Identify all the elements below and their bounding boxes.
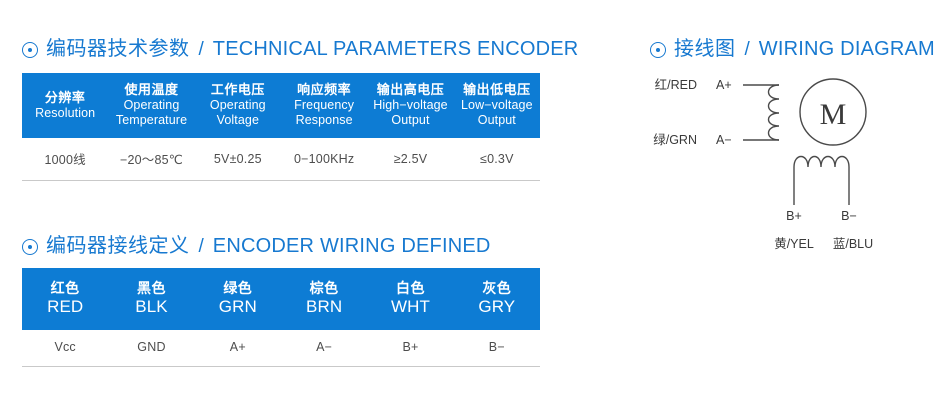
section-title-en: WIRING DIAGRAM <box>759 39 935 59</box>
circle-dot-icon <box>22 42 38 58</box>
column-header-en: GRN <box>197 297 279 317</box>
cell-brown-value: A− <box>281 330 367 367</box>
column-header-en: Resolution <box>24 106 106 121</box>
section-title-separator: / <box>198 40 205 59</box>
section-title-wiring-diagram: 接线图 / WIRING DIAGRAM <box>650 39 935 59</box>
column-header-en: BLK <box>110 297 192 317</box>
cell-operating-temperature-value: −20～85℃ <box>108 138 194 181</box>
wiring-diagram-figure: M 红/RED A+ 绿/GRN A− B+ B− 黄/YEL 蓝/BLU <box>648 62 938 252</box>
circle-dot-icon <box>650 42 666 58</box>
column-header-cn: 分辨率 <box>24 90 106 106</box>
column-header-cn: 工作电压 <box>197 82 279 98</box>
column-header-en: High−voltage Output <box>369 98 451 128</box>
column-header-red: 红色 RED <box>22 268 108 330</box>
column-header-resolution: 分辨率 Resolution <box>22 73 108 138</box>
section-title-cn: 编码器技术参数 <box>46 39 190 59</box>
label-terminal-a-minus: A− <box>716 133 732 147</box>
column-header-en: Operating Temperature <box>110 98 192 128</box>
circle-dot-icon <box>22 239 38 255</box>
coil-phase-a <box>769 85 780 140</box>
wiring-diagram-svg: M 红/RED A+ 绿/GRN A− B+ B− 黄/YEL 蓝/BLU <box>648 62 938 252</box>
cell-low-voltage-output-value: ≤0.3V <box>454 138 540 181</box>
column-header-cn: 使用温度 <box>110 82 192 98</box>
table-header-row: 红色 RED 黑色 BLK 绿色 GRN 棕色 BRN 白色 WHT 灰色 GR… <box>22 268 540 330</box>
cell-red-value: Vcc <box>22 330 108 367</box>
section-title-separator: / <box>744 40 751 59</box>
column-header-gray: 灰色 GRY <box>454 268 540 330</box>
label-red-wire: 红/RED <box>655 77 697 92</box>
column-header-en: GRY <box>456 297 538 317</box>
column-header-cn: 棕色 <box>283 280 365 297</box>
column-header-cn: 红色 <box>24 280 106 297</box>
column-header-green: 绿色 GRN <box>195 268 281 330</box>
column-header-cn: 响应频率 <box>283 82 365 98</box>
column-header-cn: 输出低电压 <box>456 82 538 98</box>
section-title-en: TECHNICAL PARAMETERS ENCODER <box>213 39 579 59</box>
technical-parameters-table: 分辨率 Resolution 使用温度 Operating Temperatur… <box>22 73 540 181</box>
section-title-encoder-wiring-defined: 编码器接线定义 / ENCODER WIRING DEFINED <box>22 236 491 256</box>
cell-green-value: A+ <box>195 330 281 367</box>
column-header-frequency-response: 响应频率 Frequency Response <box>281 73 367 138</box>
column-header-operating-temperature: 使用温度 Operating Temperature <box>108 73 194 138</box>
label-grn-wire: 绿/GRN <box>653 132 697 147</box>
cell-operating-voltage-value: 5V±0.25 <box>195 138 281 181</box>
column-header-black: 黑色 BLK <box>108 268 194 330</box>
column-header-en: Low−voltage Output <box>456 98 538 128</box>
table-row: Vcc GND A+ A− B+ B− <box>22 330 540 367</box>
column-header-cn: 白色 <box>369 280 451 297</box>
column-header-en: WHT <box>369 297 451 317</box>
section-title-cn: 编码器接线定义 <box>46 236 190 256</box>
table-row: 1000线 −20～85℃ 5V±0.25 0−100KHz ≥2.5V ≤0.… <box>22 138 540 181</box>
column-header-high-voltage-output: 输出高电压 High−voltage Output <box>367 73 453 138</box>
cell-resolution-value: 1000线 <box>22 138 108 181</box>
column-header-en: Frequency Response <box>283 98 365 128</box>
column-header-cn: 黑色 <box>110 280 192 297</box>
column-header-en: BRN <box>283 297 365 317</box>
label-terminal-b-plus: B+ <box>786 209 802 223</box>
column-header-white: 白色 WHT <box>367 268 453 330</box>
cell-gray-value: B− <box>454 330 540 367</box>
section-title-technical-parameters: 编码器技术参数 / TECHNICAL PARAMETERS ENCODER <box>22 39 578 59</box>
encoder-wiring-table: 红色 RED 黑色 BLK 绿色 GRN 棕色 BRN 白色 WHT 灰色 GR… <box>22 268 540 367</box>
cell-black-value: GND <box>108 330 194 367</box>
section-title-separator: / <box>198 237 205 256</box>
column-header-en: RED <box>24 297 106 317</box>
column-header-cn: 灰色 <box>456 280 538 297</box>
motor-symbol-label: M <box>820 98 847 131</box>
cell-frequency-response-value: 0−100KHz <box>281 138 367 181</box>
label-terminal-a-plus: A+ <box>716 78 732 92</box>
cell-high-voltage-output-value: ≥2.5V <box>367 138 453 181</box>
column-header-operating-voltage: 工作电压 Operating Voltage <box>195 73 281 138</box>
label-blu-wire: 蓝/BLU <box>833 237 873 251</box>
column-header-cn: 绿色 <box>197 280 279 297</box>
table-header-row: 分辨率 Resolution 使用温度 Operating Temperatur… <box>22 73 540 138</box>
label-yel-wire: 黄/YEL <box>774 237 814 251</box>
column-header-cn: 输出高电压 <box>369 82 451 98</box>
column-header-low-voltage-output: 输出低电压 Low−voltage Output <box>454 73 540 138</box>
column-header-en: Operating Voltage <box>197 98 279 128</box>
label-terminal-b-minus: B− <box>841 209 857 223</box>
section-title-cn: 接线图 <box>674 39 736 59</box>
cell-white-value: B+ <box>367 330 453 367</box>
column-header-brown: 棕色 BRN <box>281 268 367 330</box>
section-title-en: ENCODER WIRING DEFINED <box>213 236 491 256</box>
coil-phase-b <box>794 157 849 168</box>
